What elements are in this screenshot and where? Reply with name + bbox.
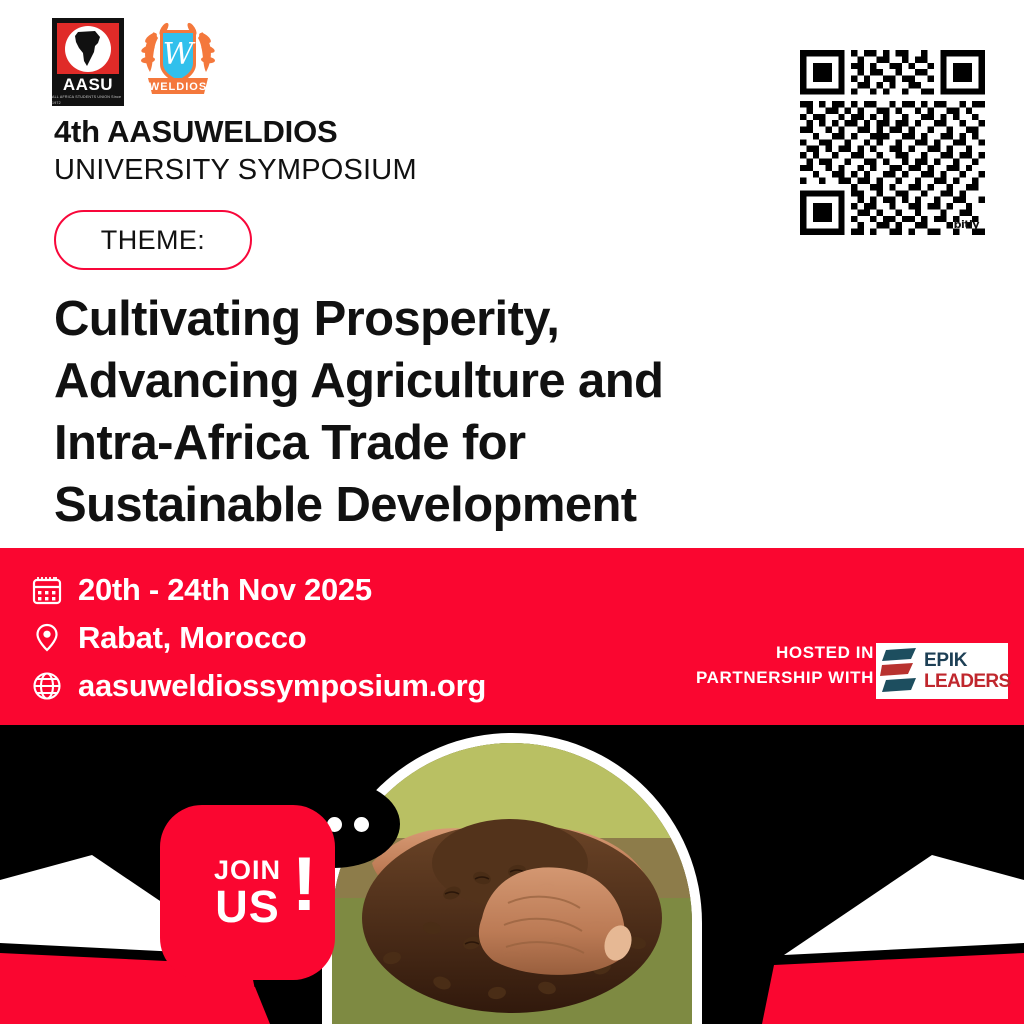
aasu-emblem <box>57 23 119 74</box>
coffee-beans-photo <box>332 743 692 1024</box>
location-pin-icon <box>30 621 64 655</box>
theme-badge: THEME: <box>54 210 252 270</box>
detail-text-location: Rabat, Morocco <box>78 620 306 656</box>
epik-leaders-mark <box>880 647 920 695</box>
aasu-logo: AASU ALL AFRICA STUDENTS UNION Since 197… <box>52 18 124 106</box>
aasu-circle <box>65 26 111 72</box>
event-details: 20th - 24th Nov 2025 Rabat, Morocco aasu… <box>30 566 486 710</box>
qr-code-icon[interactable] <box>800 50 985 235</box>
detail-row-location: Rabat, Morocco <box>30 614 486 662</box>
theme-line: Intra-Africa Trade for <box>54 412 814 474</box>
epik-word-1: EPIK <box>924 650 1011 671</box>
heading-line-2: UNIVERSITY SYMPOSIUM <box>54 152 417 188</box>
partnership-line-2: PARTNERSHIP WITH <box>696 665 874 690</box>
partnership-label: HOSTED IN PARTNERSHIP WITH <box>696 640 874 690</box>
theme-line: Cultivating Prosperity, <box>54 288 814 350</box>
qr-brand-label: bitly <box>954 218 979 231</box>
qr-code[interactable]: bitly <box>800 50 985 235</box>
weldios-crest-icon: W WELDIOS <box>138 18 218 106</box>
globe-icon <box>30 669 64 703</box>
coffee-beans-illustration <box>332 743 692 1024</box>
africa-map-icon <box>71 30 105 68</box>
detail-row-date: 20th - 24th Nov 2025 <box>30 566 486 614</box>
exclamation-mark: ! <box>292 847 317 923</box>
detail-text-website[interactable]: aasuweldiossymposium.org <box>78 668 486 704</box>
weldios-ribbon-text: WELDIOS <box>149 81 207 93</box>
weldios-logo: W WELDIOS <box>138 18 218 106</box>
epik-wordmark: EPIK LEADERS <box>924 650 1011 692</box>
detail-row-website[interactable]: aasuweldiossymposium.org <box>30 662 486 710</box>
logo-group: AASU ALL AFRICA STUDENTS UNION Since 197… <box>52 18 218 106</box>
theme-statement: Cultivating Prosperity, Advancing Agricu… <box>54 288 814 536</box>
aasu-wordmark: AASU <box>63 76 113 94</box>
epik-leaders-logo: EPIK LEADERS <box>876 643 1008 699</box>
theme-line: Advancing Agriculture and <box>54 350 814 412</box>
bottom-panel: JOIN US ! <box>0 725 1024 1024</box>
epik-word-2: LEADERS <box>924 671 1011 692</box>
us-label: US <box>215 884 280 930</box>
theme-line: Sustainable Development <box>54 474 814 536</box>
poster: AASU ALL AFRICA STUDENTS UNION Since 197… <box>0 0 1024 1024</box>
detail-text-date: 20th - 24th Nov 2025 <box>78 572 372 608</box>
join-label: JOIN <box>214 856 281 884</box>
svg-text:W: W <box>163 37 196 72</box>
aasu-tagline: ALL AFRICA STUDENTS UNION Since 1972 <box>52 94 124 106</box>
partnership-line-1: HOSTED IN <box>696 640 874 665</box>
event-heading: 4th AASUWELDIOS UNIVERSITY SYMPOSIUM <box>54 114 417 188</box>
calendar-icon <box>30 573 64 607</box>
theme-badge-label: THEME: <box>101 225 205 256</box>
heading-line-1: 4th AASUWELDIOS <box>54 114 417 150</box>
dot-icon <box>354 817 369 832</box>
join-us-bubble[interactable]: JOIN US ! <box>160 805 335 980</box>
